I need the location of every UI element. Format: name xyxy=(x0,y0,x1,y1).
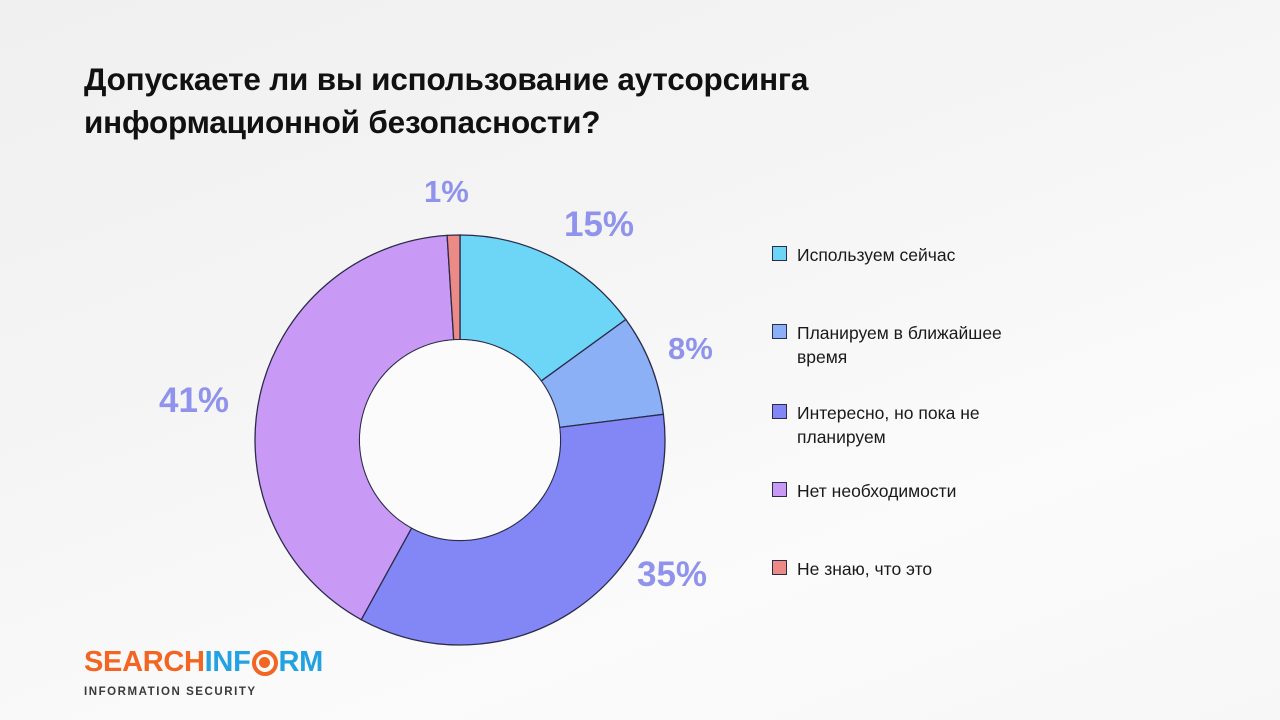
slice-label-planiruem: 8% xyxy=(668,333,713,364)
legend-swatch-icon xyxy=(772,560,787,575)
logo-inf-text: INF xyxy=(205,648,251,677)
legend-item-ne-znayu-chto-eto[interactable]: Не знаю, что это xyxy=(772,557,932,581)
legend-swatch-icon xyxy=(772,246,787,261)
slice-label-interesno: 35% xyxy=(637,557,707,592)
logo-lens-o-icon xyxy=(252,650,278,676)
donut-chart-svg xyxy=(250,230,670,650)
slide-root: Допускаете ли вы использование аутсорсин… xyxy=(0,0,1280,720)
donut-chart xyxy=(230,205,690,665)
legend-item-label: Используем сейчас xyxy=(797,243,955,267)
page-title: Допускаете ли вы использование аутсорсин… xyxy=(84,58,984,144)
title-line-2: информационной безопасности? xyxy=(84,101,984,144)
title-line-1: Допускаете ли вы использование аутсорсин… xyxy=(84,61,808,97)
logo-wordmark: SEARCHINFRM xyxy=(84,648,323,677)
legend-swatch-icon xyxy=(772,404,787,419)
slice-label-net-neobhodimosti: 41% xyxy=(159,383,229,418)
legend-item-planiruem-v-blizhayshee-vremya[interactable]: Планируем в ближайшее время xyxy=(772,321,1033,369)
searchinform-logo: SEARCHINFRM INFORMATION SECURITY xyxy=(84,648,323,698)
legend-item-net-neobhodimosti[interactable]: Нет необходимости xyxy=(772,479,956,503)
logo-search-text: SEARCH xyxy=(84,648,205,677)
legend-item-label: Планируем в ближайшее время xyxy=(797,321,1033,369)
legend-item-label: Нет необходимости xyxy=(797,479,956,503)
logo-rm-text: RM xyxy=(279,648,324,677)
slice-label-ne-znayu: 1% xyxy=(424,176,469,207)
legend-swatch-icon xyxy=(772,482,787,497)
donut-hole xyxy=(360,340,560,540)
legend-item-label: Интересно, но пока не планируем xyxy=(797,401,1033,449)
legend-item-label: Не знаю, что это xyxy=(797,557,932,581)
legend-swatch-icon xyxy=(772,324,787,339)
logo-tagline: INFORMATION SECURITY xyxy=(84,686,323,698)
slice-label-ispolzuem: 15% xyxy=(564,207,634,242)
legend-item-ispolzuem-seychas[interactable]: Используем сейчас xyxy=(772,243,955,267)
legend-item-interesno-no-poka-ne-planiruem[interactable]: Интересно, но пока не планируем xyxy=(772,401,1033,449)
